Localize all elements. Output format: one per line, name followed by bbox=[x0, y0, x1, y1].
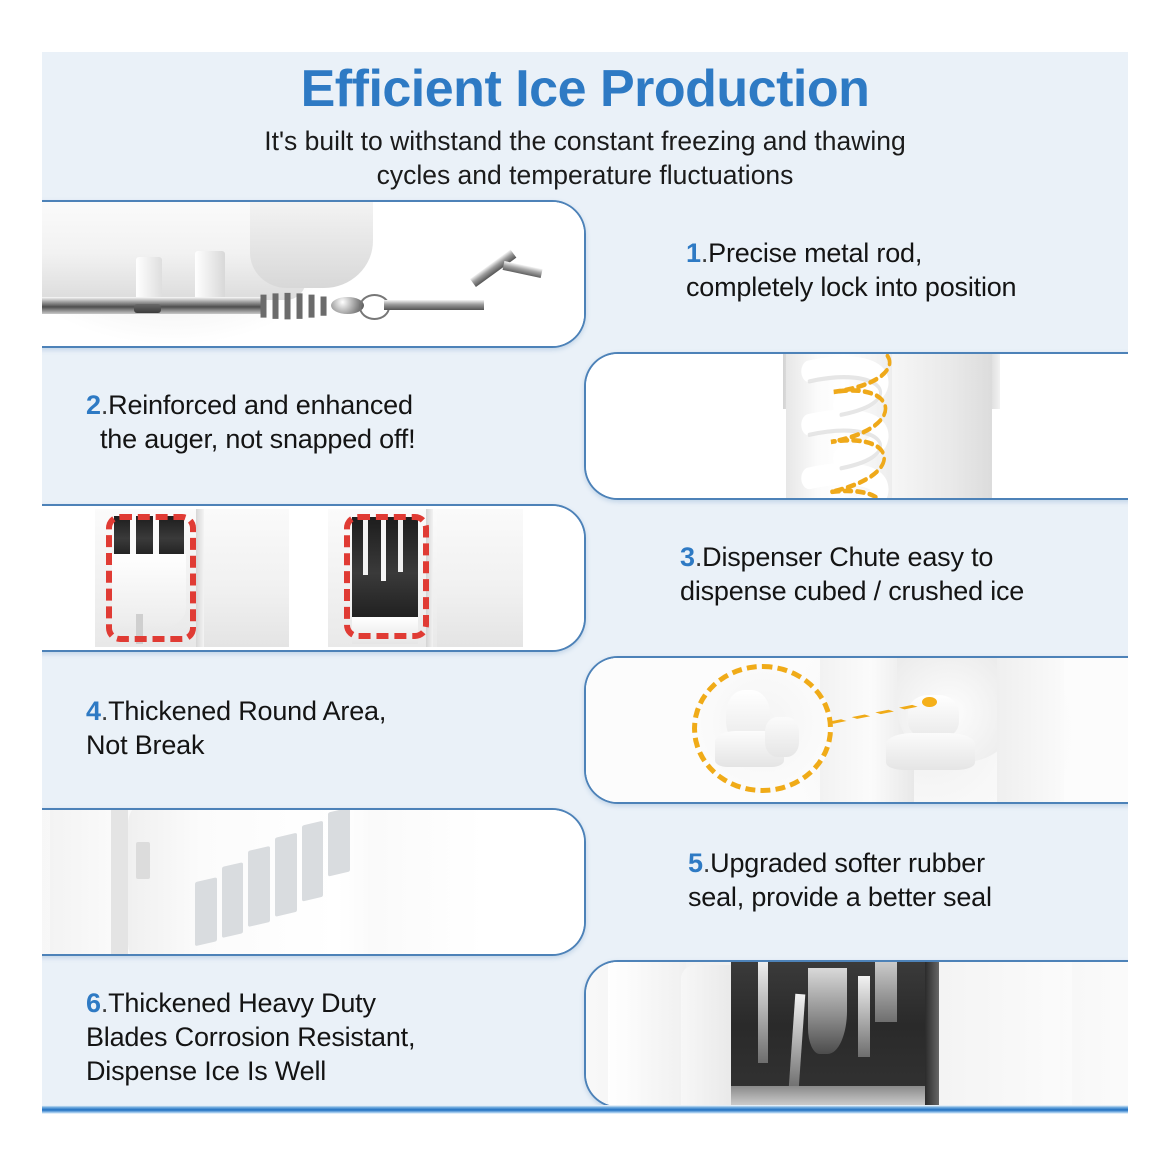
feature-2-caption: 2.Reinforced and enhanced the auger, not… bbox=[86, 388, 516, 456]
feature-3-line-2: dispense cubed / crushed ice bbox=[680, 576, 1024, 606]
feature-5-line-2: seal, provide a better seal bbox=[688, 882, 992, 912]
feature-2-line-1: Reinforced and enhanced bbox=[108, 390, 413, 420]
feature-row-1: 1.Precise metal rod, completely lock int… bbox=[42, 200, 1128, 352]
feature-6-caption: 6.Thickened Heavy Duty Blades Corrosion … bbox=[86, 986, 516, 1088]
feature-4-number: 4 bbox=[86, 696, 101, 726]
metal-rod-spring-photo bbox=[42, 202, 584, 346]
feature-row-6: 6.Thickened Heavy Duty Blades Corrosion … bbox=[42, 960, 1128, 1112]
feature-6-number: 6 bbox=[86, 988, 101, 1018]
feature-5-image-panel bbox=[42, 808, 586, 956]
feature-1-line-1: Precise metal rod, bbox=[708, 238, 922, 268]
feature-4-caption: 4.Thickened Round Area, Not Break bbox=[86, 694, 506, 762]
feature-5-number: 5 bbox=[688, 848, 703, 878]
feature-3-caption: 3.Dispenser Chute easy to dispense cubed… bbox=[680, 540, 1100, 608]
page-subtitle: It's built to withstand the constant fre… bbox=[190, 125, 980, 193]
feature-1-caption: 1.Precise metal rod, completely lock int… bbox=[686, 236, 1086, 304]
dispenser-chute-photo bbox=[42, 506, 584, 650]
thickened-round-area-photo bbox=[586, 658, 1128, 802]
feature-1-image-panel bbox=[42, 200, 586, 348]
feature-5-caption: 5.Upgraded softer rubber seal, provide a… bbox=[688, 846, 1108, 914]
auger-photo bbox=[586, 354, 1128, 498]
infographic-root: Efficient Ice Production It's built to w… bbox=[0, 0, 1175, 1175]
feature-4-image-panel bbox=[584, 656, 1128, 804]
rubber-seal-photo bbox=[42, 810, 584, 954]
subtitle-line-1: It's built to withstand the constant fre… bbox=[190, 125, 980, 159]
bottom-blue-rule bbox=[42, 1105, 1128, 1114]
feature-1-number: 1 bbox=[686, 238, 701, 268]
feature-6-image-panel bbox=[584, 960, 1128, 1108]
feature-row-4: 4.Thickened Round Area, Not Break bbox=[42, 656, 1128, 808]
feature-list: 1.Precise metal rod, completely lock int… bbox=[42, 200, 1128, 1112]
feature-row-5: 5.Upgraded softer rubber seal, provide a… bbox=[42, 808, 1128, 960]
feature-1-line-2: completely lock into position bbox=[686, 272, 1016, 302]
header: Efficient Ice Production It's built to w… bbox=[42, 52, 1128, 192]
feature-3-line-1: Dispenser Chute easy to bbox=[702, 542, 993, 572]
feature-row-2: 2.Reinforced and enhanced the auger, not… bbox=[42, 352, 1128, 504]
feature-row-3: 3.Dispenser Chute easy to dispense cubed… bbox=[42, 504, 1128, 656]
feature-3-number: 3 bbox=[680, 542, 695, 572]
page-title: Efficient Ice Production bbox=[42, 62, 1128, 117]
subtitle-line-2: cycles and temperature fluctuations bbox=[190, 159, 980, 193]
feature-4-line-2: Not Break bbox=[86, 730, 204, 760]
feature-6-line-2: Blades Corrosion Resistant, bbox=[86, 1022, 415, 1052]
feature-2-number: 2 bbox=[86, 390, 101, 420]
feature-6-line-1: Thickened Heavy Duty bbox=[108, 988, 376, 1018]
feature-2-image-panel bbox=[584, 352, 1128, 500]
feature-4-line-1: Thickened Round Area, bbox=[108, 696, 386, 726]
feature-6-line-3: Dispense Ice Is Well bbox=[86, 1056, 326, 1086]
content-canvas: Efficient Ice Production It's built to w… bbox=[42, 52, 1128, 1114]
feature-3-image-panel bbox=[42, 504, 586, 652]
heavy-duty-blades-photo bbox=[586, 962, 1128, 1106]
feature-2-line-2: the auger, not snapped off! bbox=[100, 424, 415, 454]
feature-5-line-1: Upgraded softer rubber bbox=[710, 848, 985, 878]
